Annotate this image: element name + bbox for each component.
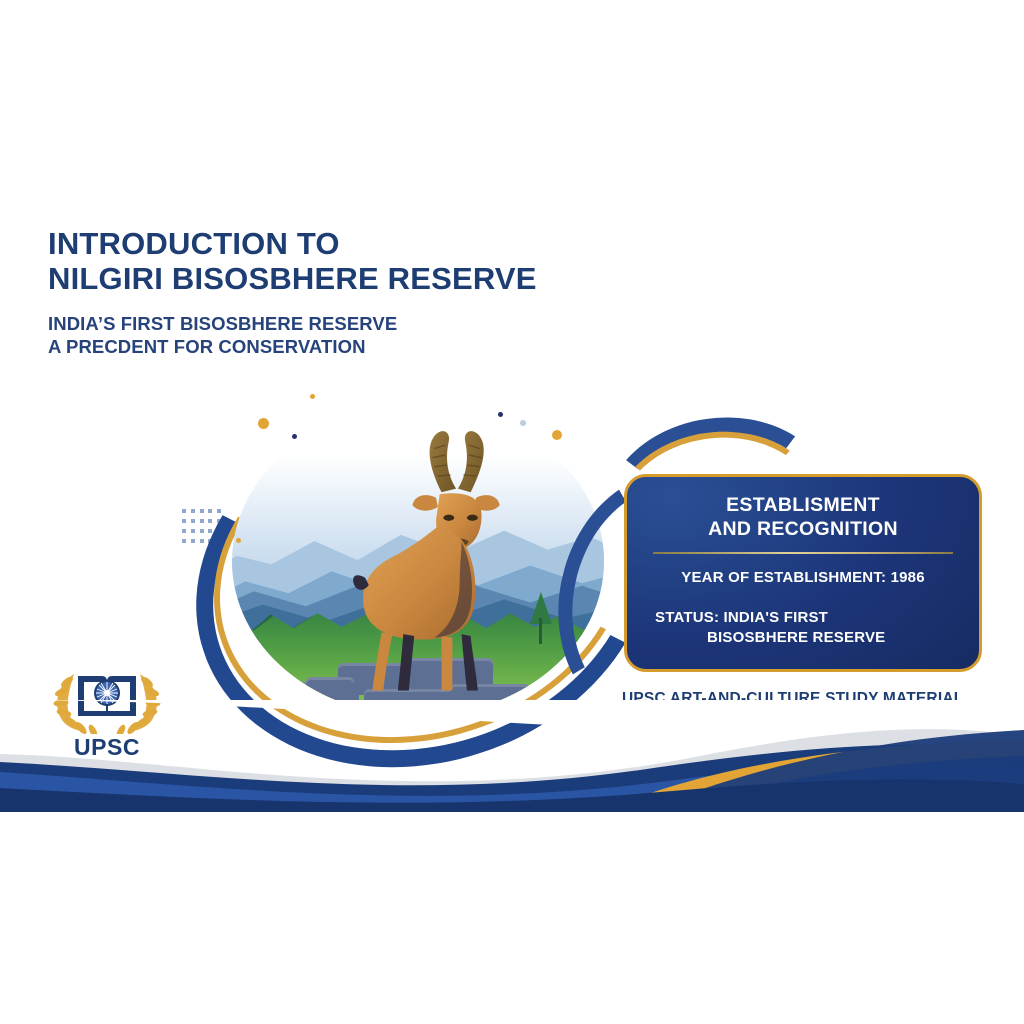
accent-dot-navy (498, 412, 503, 417)
subtitle: INDIA’S FIRST BISOSBHERE RESERVE A PRECD… (48, 312, 668, 358)
accent-dot-gold (258, 418, 269, 429)
card-heading: ESTABLISMENT AND RECOGNITION (645, 493, 961, 541)
card-divider (653, 552, 953, 554)
accent-dot-gold (552, 430, 562, 440)
establishment-info-card[interactable]: ESTABLISMENT AND RECOGNITION YEAR OF EST… (624, 474, 982, 672)
card-heading-line-2: AND RECOGNITION (645, 517, 961, 541)
subtitle-line-1: INDIA’S FIRST BISOSBHERE RESERVE (48, 312, 668, 335)
illustration-circle (232, 406, 604, 716)
wave-white (0, 700, 1024, 728)
status-value: STATUS: INDIA'S FIRST BISOSBHERE RESERVE (645, 608, 961, 648)
year-of-establishment-value: YEAR OF ESTABLISHMENT: 1986 (645, 568, 961, 588)
bottom-wave-decoration (0, 700, 1024, 812)
title-line-2: NILGIRI BISOSBHERE RESERVE (48, 261, 668, 296)
page-title: INTRODUCTION TO NILGIRI BISOSBHERE RESER… (48, 226, 668, 358)
status-line-2: BISOSBHERE RESERVE (655, 628, 961, 648)
accent-dot-gold (236, 538, 241, 543)
status-line-1: STATUS: INDIA'S FIRST (655, 609, 828, 626)
card-heading-line-1: ESTABLISMENT (645, 493, 961, 517)
accent-dot-navy (292, 434, 297, 439)
slide-canvas: INTRODUCTION TO NILGIRI BISOSBHERE RESER… (0, 0, 1024, 1024)
title-line-1: INTRODUCTION TO (48, 226, 668, 261)
accent-dot-gold (310, 394, 315, 399)
subtitle-line-2: A PRECDENT FOR CONSERVATION (48, 335, 668, 358)
accent-dot-light (520, 420, 526, 426)
nilgiri-tahr-icon (321, 425, 529, 698)
